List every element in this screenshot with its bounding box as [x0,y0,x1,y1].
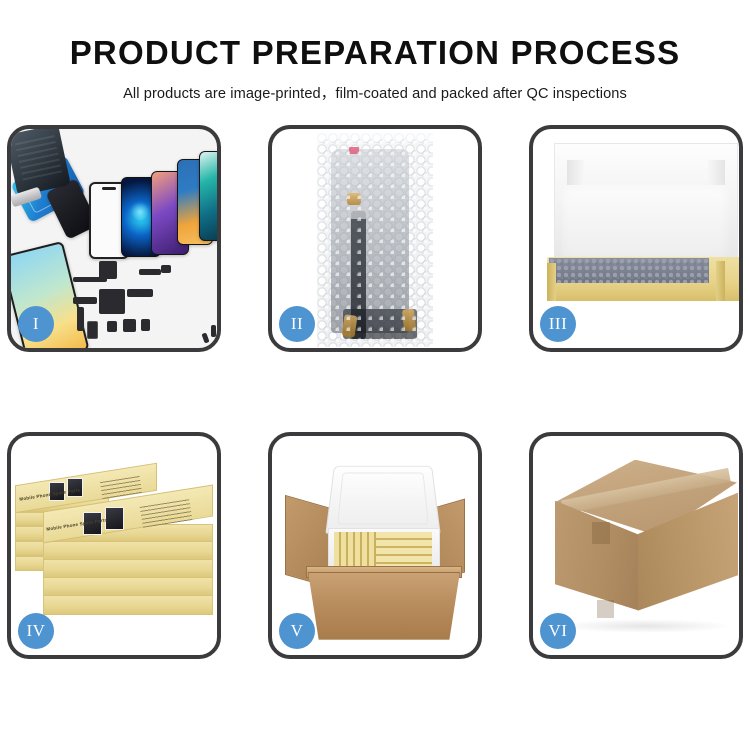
screw-graphic [201,332,209,343]
page-subtitle: All products are image-printed，film-coat… [0,82,750,103]
foam-lid-graphic [325,466,440,534]
carton-front-panel-graphic [308,572,460,640]
sim-tray-part-graphic [87,321,98,339]
gold-contact-graphic [342,314,358,338]
carton-seam-graphic [597,600,614,618]
vibrator-motor-part-graphic [99,261,117,279]
stacked-box-graphic [43,541,213,560]
header: PRODUCT PREPARATION PROCESS All products… [0,0,750,103]
small-chip-part-graphic [141,319,150,331]
carton-shadow-graphic [557,619,733,633]
small-chip-part-graphic [107,321,117,332]
speaker-part-graphic [123,319,136,332]
tray-left-edge-graphic [547,263,556,301]
stacked-box-graphic [43,595,213,615]
flex-cable-part-graphic [77,307,84,331]
step-badge-6: VI [540,613,576,649]
screen-bottom-shadow-graphic [343,309,417,339]
flex-cable-part-graphic [127,289,153,297]
white-foam-sheet-graphic [561,185,729,261]
process-step-5: V [268,432,482,659]
box-window-graphic [105,507,124,530]
screw-graphic [211,325,216,337]
gold-contact-part-graphic [161,265,171,273]
screen-inside-bag-graphic [331,149,409,333]
step-badge-3: III [540,306,576,342]
bag-seal-graphic [317,133,433,142]
bubble-wrap-bag-graphic [317,133,433,347]
step-badge-1: I [18,306,54,342]
step-badge-5: V [279,613,315,649]
screen-flex-cable-graphic [351,211,366,339]
connector-grid-part-graphic [99,289,125,314]
gold-contact-graphic [347,193,361,205]
step-badge-2: II [279,306,315,342]
carton-seam-graphic [592,522,610,544]
flex-cable-part-graphic [73,297,97,304]
process-step-grid: I II [7,125,743,659]
screen-connector-graphic [348,205,368,219]
stacked-box-graphic [43,577,213,596]
gold-contact-graphic [402,308,416,331]
qc-sticker-graphic [349,147,359,154]
process-step-3: III [529,125,743,352]
process-step-1: I [7,125,221,352]
process-step-2: II [268,125,482,352]
step-badge-4: IV [18,613,54,649]
grey-foam-insert-graphic [549,258,709,283]
flex-cable-part-graphic [139,269,161,275]
phone-back-housing-graphic [11,129,71,196]
stacked-box-graphic [43,559,213,578]
tray-right-edge-graphic [716,261,725,301]
product-preparation-infographic: PRODUCT PREPARATION PROCESS All products… [0,0,750,659]
page-title: PRODUCT PREPARATION PROCESS [0,36,750,71]
packed-boxes-graphic [376,532,432,570]
process-step-6: VI [529,432,743,659]
process-step-4: Mobile Phone Spare Parts Mobile Phone Sp… [7,432,221,659]
teal-gradient-phone-graphic [199,151,217,241]
